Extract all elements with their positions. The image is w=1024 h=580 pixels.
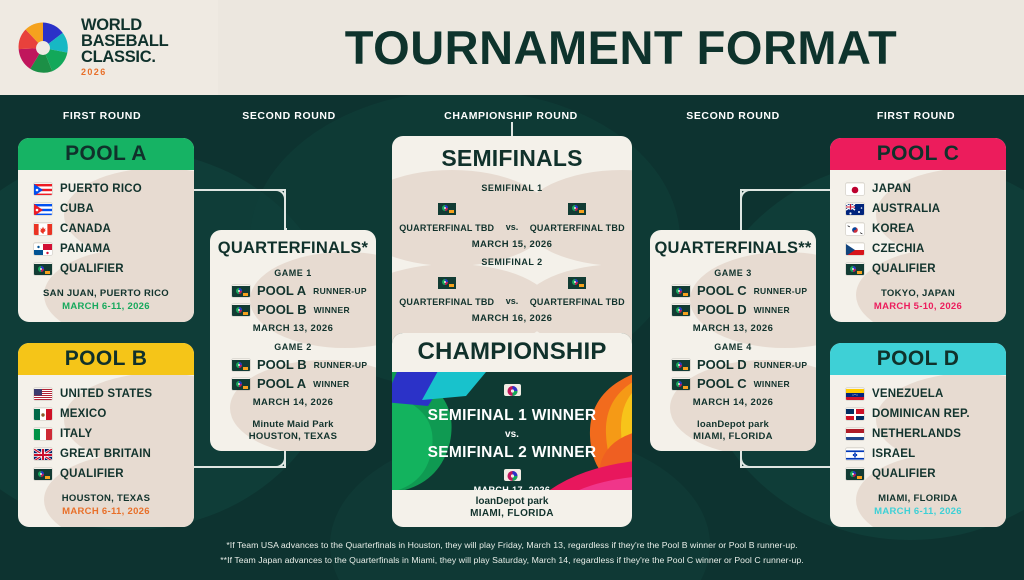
team-row: CZECHIA — [830, 239, 1006, 259]
venue-city: HOUSTON, TEXAS — [214, 431, 372, 442]
team-name: UNITED STATES — [60, 388, 152, 400]
match-qualifier: WINNER — [754, 379, 790, 389]
game-block: GAME 2POOL BRUNNER-UPPOOL AWINNERMARCH 1… — [210, 339, 376, 413]
flag-tbd-icon — [232, 359, 250, 371]
pool-venue: TOKYO, JAPANMARCH 5-10, 2026 — [830, 279, 1006, 322]
semifinal-label: SEMIFINAL 2 — [392, 257, 632, 267]
championship-title: CHAMPIONSHIP — [392, 333, 632, 372]
footnote-1: *If Team USA advances to the Quarterfina… — [0, 538, 1024, 553]
championship-card[interactable]: CHAMPIONSHIP — [392, 333, 632, 527]
wbc-logo-small-icon-2 — [504, 469, 521, 481]
team-row: DOMINICAN REP. — [830, 404, 1006, 424]
brand-year: 2026 — [81, 68, 168, 77]
semifinal-block: SEMIFINAL 1QUARTERFINAL TBDvs.QUARTERFIN… — [392, 179, 632, 253]
match-team: POOL A — [257, 283, 306, 298]
wbc-logo-small-icon — [504, 384, 521, 396]
team-name: CANADA — [60, 223, 111, 235]
game-label: GAME 2 — [210, 342, 376, 352]
championship-venue: loanDepot park MIAMI, FLORIDA — [392, 490, 632, 527]
team-row: QUALIFIER — [830, 259, 1006, 279]
match-line: POOL DRUNNER-UP — [650, 355, 816, 374]
flag-puerto-rico-icon — [34, 183, 52, 195]
quarterfinals-right-venue: loanDepot park MIAMI, FLORIDA — [650, 413, 816, 451]
team-row: VENEZUELA — [830, 384, 1006, 404]
team-name: JAPAN — [872, 183, 911, 195]
semifinal-label: SEMIFINAL 1 — [392, 183, 632, 193]
team-row: KOREA — [830, 219, 1006, 239]
match-qualifier: WINNER — [314, 305, 350, 315]
pool-dates: MARCH 5-10, 2026 — [834, 301, 1002, 312]
semifinal-vs-label: vs. — [506, 222, 519, 232]
match-line: POOL AWINNER — [210, 374, 376, 393]
team-name: QUALIFIER — [60, 263, 124, 275]
game-label: GAME 3 — [650, 268, 816, 278]
flag-netherlands-icon — [846, 428, 864, 440]
match-team: POOL B — [257, 357, 307, 372]
round-label-4: FIRST ROUND — [877, 110, 955, 122]
pool-team-list: JAPANAUSTRALIAKOREACZECHIAQUALIFIER — [830, 170, 1006, 279]
team-name: QUALIFIER — [872, 468, 936, 480]
flag-tbd-icon — [672, 304, 690, 316]
pool-dates: MARCH 6-11, 2026 — [22, 301, 190, 312]
flag-korea-icon — [846, 223, 864, 235]
flag-great-britain-icon — [34, 448, 52, 460]
flag-qualifier-icon — [34, 468, 52, 480]
top-bar: WORLD BASEBALL CLASSIC. 2026 TOURNAMENT … — [0, 0, 1024, 95]
team-name: DOMINICAN REP. — [872, 408, 970, 420]
flag-czechia-icon — [846, 243, 864, 255]
flag-italy-icon — [34, 428, 52, 440]
match-line: POOL DWINNER — [650, 300, 816, 319]
match-qualifier: RUNNER-UP — [754, 286, 808, 296]
semifinal-side-right: QUARTERFINAL TBD — [528, 202, 626, 233]
championship-team-1: SEMIFINAL 1 WINNER — [392, 407, 632, 425]
game-date: MARCH 14, 2026 — [650, 397, 816, 408]
flag-panama-icon — [34, 243, 52, 255]
pool-team-list: UNITED STATESMEXICOITALYGREAT BRITAINQUA… — [18, 375, 194, 484]
semifinal-matchup: QUARTERFINAL TBDvs.QUARTERFINAL TBD — [392, 202, 632, 233]
match-team: POOL D — [697, 357, 747, 372]
pool-dates: MARCH 6-11, 2026 — [834, 506, 1002, 517]
pool-venue: SAN JUAN, PUERTO RICOMARCH 6-11, 2026 — [18, 279, 194, 322]
flag-qualifier-icon — [846, 468, 864, 480]
semifinal-team-right: QUARTERFINAL TBD — [530, 223, 625, 233]
team-row: CANADA — [18, 219, 194, 239]
game-block: GAME 1POOL ARUNNER-UPPOOL BWINNERMARCH 1… — [210, 265, 376, 339]
round-label-2: CHAMPIONSHIP ROUND — [444, 110, 578, 122]
flag-qualifier-icon — [846, 263, 864, 275]
pool-card-pool-c[interactable]: POOL CJAPANAUSTRALIAKOREACZECHIAQUALIFIE… — [830, 138, 1006, 322]
team-name: MEXICO — [60, 408, 107, 420]
quarterfinals-right-card[interactable]: QUARTERFINALS** GAME 3POOL CRUNNER-UPPOO… — [650, 230, 816, 451]
flag-dominican-republic-icon — [846, 408, 864, 420]
flag-japan-icon — [846, 183, 864, 195]
game-label: GAME 4 — [650, 342, 816, 352]
tournament-format-graphic: WORLD BASEBALL CLASSIC. 2026 TOURNAMENT … — [0, 0, 1024, 580]
team-name: PUERTO RICO — [60, 183, 142, 195]
pool-header: POOL D — [830, 343, 1006, 375]
venue-name: loanDepot park — [654, 419, 812, 430]
semifinal-date: MARCH 15, 2026 — [392, 239, 632, 250]
team-row: PUERTO RICO — [18, 179, 194, 199]
team-name: PANAMA — [60, 243, 111, 255]
team-row: AUSTRALIA — [830, 199, 1006, 219]
flag-qualifier-icon — [34, 263, 52, 275]
pool-team-list: VENEZUELADOMINICAN REP.NETHERLANDSISRAEL… — [830, 375, 1006, 484]
championship-match-area: SEMIFINAL 1 WINNER vs. SEMIFINAL 2 WINNE… — [392, 372, 632, 490]
semifinal-vs-label: vs. — [506, 296, 519, 306]
team-row: MEXICO — [18, 404, 194, 424]
match-qualifier: WINNER — [754, 305, 790, 315]
team-name: CUBA — [60, 203, 94, 215]
flag-israel-icon — [846, 448, 864, 460]
semifinal-side-left: QUARTERFINAL TBD — [398, 276, 496, 307]
pool-dates: MARCH 6-11, 2026 — [22, 506, 190, 517]
semifinals-card[interactable]: SEMIFINALS SEMIFINAL 1QUARTERFINAL TBDvs… — [392, 136, 632, 365]
game-block: GAME 4POOL DRUNNER-UPPOOL CWINNERMARCH 1… — [650, 339, 816, 413]
match-line: POOL BRUNNER-UP — [210, 355, 376, 374]
wbc-pinwheel-logo-icon — [14, 19, 72, 77]
pool-city: SAN JUAN, PUERTO RICO — [22, 288, 190, 299]
flag-venezuela-icon — [846, 388, 864, 400]
pool-header: POOL C — [830, 138, 1006, 170]
flag-canada-icon — [34, 223, 52, 235]
team-name: KOREA — [872, 223, 915, 235]
team-row: QUALIFIER — [18, 259, 194, 279]
match-qualifier: WINNER — [313, 379, 349, 389]
flag-mexico-icon — [34, 408, 52, 420]
championship-date: MARCH 17, 2026 — [392, 485, 632, 490]
team-name: NETHERLANDS — [872, 428, 961, 440]
match-line: POOL BWINNER — [210, 300, 376, 319]
venue-city: MIAMI, FLORIDA — [654, 431, 812, 442]
flag-tbd-icon — [232, 304, 250, 316]
semifinal-date: MARCH 16, 2026 — [392, 313, 632, 324]
team-row: NETHERLANDS — [830, 424, 1006, 444]
semifinal-side-right: QUARTERFINAL TBD — [528, 276, 626, 307]
match-qualifier: RUNNER-UP — [313, 286, 367, 296]
brand-wordmark: WORLD BASEBALL CLASSIC. 2026 — [81, 18, 168, 77]
flag-tbd-icon — [672, 378, 690, 390]
team-row: ISRAEL — [830, 444, 1006, 464]
team-row: QUALIFIER — [830, 464, 1006, 484]
semifinal-block: SEMIFINAL 2QUARTERFINAL TBDvs.QUARTERFIN… — [392, 253, 632, 327]
pool-team-list: PUERTO RICOCUBACANADAPANAMAQUALIFIER — [18, 170, 194, 279]
footnote-2: **If Team Japan advances to the Quarterf… — [0, 553, 1024, 568]
game-block: GAME 3POOL CRUNNER-UPPOOL DWINNERMARCH 1… — [650, 265, 816, 339]
quarterfinals-left-title: QUARTERFINALS* — [210, 230, 376, 265]
game-date: MARCH 13, 2026 — [650, 323, 816, 334]
pool-card-pool-d[interactable]: POOL DVENEZUELADOMINICAN REP.NETHERLANDS… — [830, 343, 1006, 527]
match-qualifier: RUNNER-UP — [314, 360, 368, 370]
round-label-0: FIRST ROUND — [63, 110, 141, 122]
semifinal-team-left: QUARTERFINAL TBD — [399, 297, 494, 307]
team-name: GREAT BRITAIN — [60, 448, 151, 460]
game-date: MARCH 13, 2026 — [210, 323, 376, 334]
pool-city: HOUSTON, TEXAS — [22, 493, 190, 504]
flag-tbd-icon — [232, 285, 250, 297]
semifinal-side-left: QUARTERFINAL TBD — [398, 202, 496, 233]
semifinals-title: SEMIFINALS — [392, 136, 632, 179]
round-label-1: SECOND ROUND — [242, 110, 336, 122]
game-date: MARCH 14, 2026 — [210, 397, 376, 408]
match-line: POOL CWINNER — [650, 374, 816, 393]
flag-australia-icon — [846, 203, 864, 215]
venue-name: loanDepot park — [392, 496, 632, 507]
match-team: POOL C — [697, 283, 747, 298]
pool-card-pool-a[interactable]: POOL APUERTO RICOCUBACANADAPANAMAQUALIFI… — [18, 138, 194, 322]
championship-vs-label: vs. — [392, 429, 632, 440]
flag-tbd-icon — [672, 285, 690, 297]
footnotes: *If Team USA advances to the Quarterfina… — [0, 538, 1024, 568]
match-line: POOL ARUNNER-UP — [210, 281, 376, 300]
pool-card-pool-b[interactable]: POOL BUNITED STATESMEXICOITALYGREAT BRIT… — [18, 343, 194, 527]
team-row: UNITED STATES — [18, 384, 194, 404]
brand-line-3: CLASSIC. — [81, 50, 168, 66]
team-row: JAPAN — [830, 179, 1006, 199]
flag-tbd-icon — [672, 359, 690, 371]
team-row: ITALY — [18, 424, 194, 444]
quarterfinals-right-title: QUARTERFINALS** — [650, 230, 816, 265]
team-row: CUBA — [18, 199, 194, 219]
team-row: GREAT BRITAIN — [18, 444, 194, 464]
pool-venue: MIAMI, FLORIDAMARCH 6-11, 2026 — [830, 484, 1006, 527]
team-name: AUSTRALIA — [872, 203, 940, 215]
championship-team-2: SEMIFINAL 2 WINNER — [392, 444, 632, 462]
title-banner: TOURNAMENT FORMAT — [218, 0, 1024, 95]
page-title: TOURNAMENT FORMAT — [345, 20, 897, 75]
team-name: ISRAEL — [872, 448, 915, 460]
team-row: QUALIFIER — [18, 464, 194, 484]
pool-header: POOL A — [18, 138, 194, 170]
flag-tbd-icon — [232, 378, 250, 390]
semifinal-team-left: QUARTERFINAL TBD — [399, 223, 494, 233]
match-team: POOL B — [257, 302, 307, 317]
pool-city: TOKYO, JAPAN — [834, 288, 1002, 299]
pool-venue: HOUSTON, TEXASMARCH 6-11, 2026 — [18, 484, 194, 527]
venue-name: Minute Maid Park — [214, 419, 372, 430]
round-label-3: SECOND ROUND — [686, 110, 780, 122]
quarterfinals-left-card[interactable]: QUARTERFINALS* GAME 1POOL ARUNNER-UPPOOL… — [210, 230, 376, 451]
team-name: QUALIFIER — [60, 468, 124, 480]
match-qualifier: RUNNER-UP — [754, 360, 808, 370]
team-row: PANAMA — [18, 239, 194, 259]
match-team: POOL D — [697, 302, 747, 317]
brand-logo-pane: WORLD BASEBALL CLASSIC. 2026 — [0, 0, 218, 95]
game-label: GAME 1 — [210, 268, 376, 278]
flag-cuba-icon — [34, 203, 52, 215]
match-line: POOL CRUNNER-UP — [650, 281, 816, 300]
semifinal-matchup: QUARTERFINAL TBDvs.QUARTERFINAL TBD — [392, 276, 632, 307]
pool-city: MIAMI, FLORIDA — [834, 493, 1002, 504]
team-name: VENEZUELA — [872, 388, 943, 400]
team-name: ITALY — [60, 428, 92, 440]
match-team: POOL C — [697, 376, 747, 391]
flag-united-states-icon — [34, 388, 52, 400]
team-name: QUALIFIER — [872, 263, 936, 275]
match-team: POOL A — [257, 376, 306, 391]
pool-header: POOL B — [18, 343, 194, 375]
semifinal-team-right: QUARTERFINAL TBD — [530, 297, 625, 307]
team-name: CZECHIA — [872, 243, 925, 255]
quarterfinals-left-venue: Minute Maid Park HOUSTON, TEXAS — [210, 413, 376, 451]
championship-matchup: SEMIFINAL 1 WINNER vs. SEMIFINAL 2 WINNE… — [392, 372, 632, 490]
venue-city: MIAMI, FLORIDA — [392, 508, 632, 519]
